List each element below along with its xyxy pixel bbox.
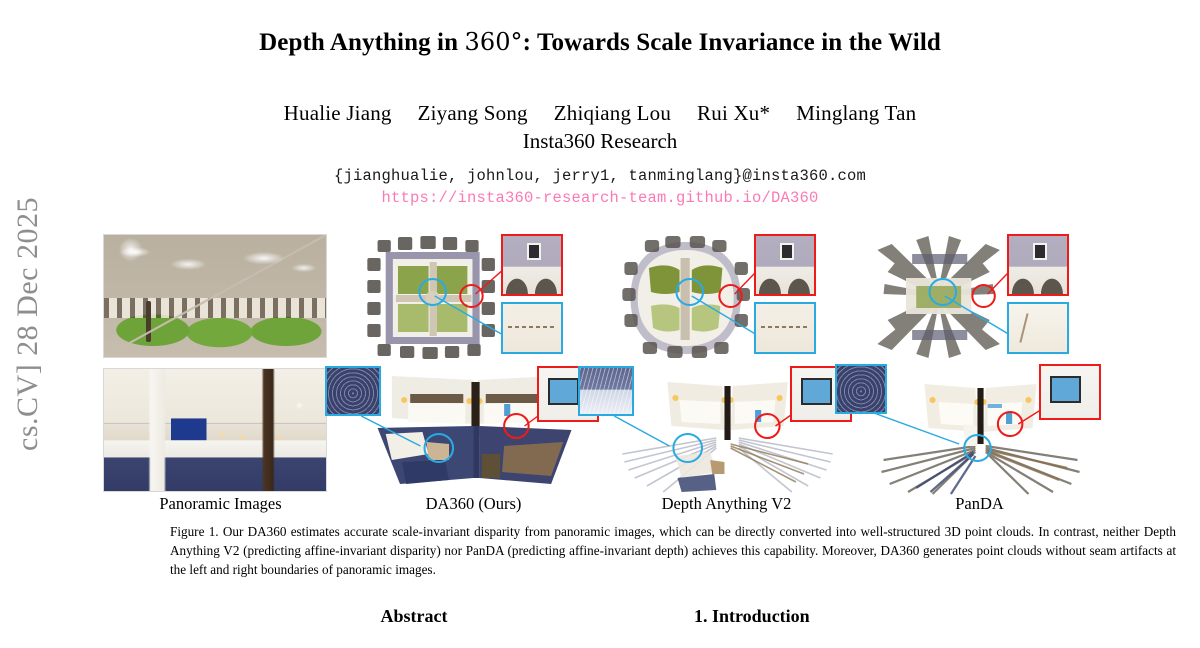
figure-column-label-depth-anything-v2: Depth Anything V2 (604, 494, 849, 514)
wall-picture-detail (548, 378, 579, 405)
figure-cell-row2-panda (857, 368, 1102, 496)
figure-column-label-panoramic-images: Panoramic Images (98, 494, 343, 514)
contact-email: {jianghualie, johnlou, jerry1, tanmingla… (72, 167, 1128, 185)
arxiv-stamp: cs.CV] 28 Dec 2025 (0, 0, 60, 648)
wall-picture-detail (1050, 376, 1081, 403)
statue-silhouette (146, 301, 151, 342)
author-1: Hualie Jiang (284, 101, 392, 126)
author-list: Hualie JiangZiyang SongZhiqiang LouRui X… (72, 101, 1128, 126)
author-3: Zhiqiang Lou (554, 101, 671, 126)
page-title: Depth Anything in 360°: Towards Scale In… (72, 28, 1128, 57)
figure-cell-row2-depth-anything-v2 (604, 368, 849, 496)
figure-column-label-da360-ours: DA360 (Ours) (351, 494, 596, 514)
author-4: Rui Xu* (697, 101, 770, 126)
inset-blue-row2-da360 (325, 366, 381, 416)
introduction-heading: 1. Introduction (688, 606, 1176, 627)
figure-caption: Figure 1. Our DA360 estimates accurate s… (170, 522, 1176, 579)
arxiv-stamp-text: cs.CV] 28 Dec 2025 (11, 197, 45, 451)
figure-column-label-panda: PanDA (857, 494, 1102, 514)
crack-detail (1019, 313, 1028, 342)
inset-blue-row1-dav2 (754, 302, 816, 354)
panoramic-outdoor-courtyard-image (103, 234, 327, 358)
seam-detail (508, 326, 557, 328)
figure-cell-row1-panorama (98, 234, 343, 362)
figure-cell-row1-depth-anything-v2 (604, 234, 849, 362)
figure-cell-row2-panorama (98, 368, 343, 496)
author-2: Ziyang Song (418, 101, 528, 126)
figure-cell-row1-panda (857, 234, 1102, 362)
affiliation: Insta360 Research (72, 129, 1128, 154)
wall-picture-detail (801, 378, 832, 405)
window-detail (527, 243, 540, 260)
paper-page: Depth Anything in 360°: Towards Scale In… (72, 0, 1128, 648)
figure-grid (98, 234, 1102, 496)
inset-blue-row1-panda (1007, 302, 1069, 354)
inset-blue-row2-dav2 (578, 366, 634, 416)
figure-1 (98, 234, 1102, 496)
window-detail (780, 243, 793, 260)
figure-column-labels: Panoramic Images DA360 (Ours) Depth Anyt… (98, 494, 1102, 514)
figure-cell-row1-da360 (351, 234, 596, 362)
inset-red-row1-da360 (501, 234, 563, 296)
inset-red-row1-panda (1007, 234, 1069, 296)
project-url-link[interactable]: https://insta360-research-team.github.io… (72, 189, 1128, 207)
inset-blue-row2-panda (835, 364, 887, 414)
panoramic-indoor-hotel-room-image (103, 368, 327, 492)
title-part-2: : Towards Scale Invariance in the Wild (523, 29, 941, 56)
window-detail (1033, 243, 1046, 260)
inset-blue-row1-da360 (501, 302, 563, 354)
section-headings: Abstract 1. Introduction (170, 606, 1176, 627)
seam-detail (761, 326, 810, 328)
inset-red-row1-dav2 (754, 234, 816, 296)
author-5: Minglang Tan (796, 101, 916, 126)
title-part-1: Depth Anything in (259, 29, 464, 56)
abstract-heading: Abstract (170, 606, 658, 627)
figure-cell-row2-da360 (351, 368, 596, 496)
title-degree-360: 360° (464, 28, 522, 56)
inset-red-row2-panda (1039, 364, 1101, 420)
